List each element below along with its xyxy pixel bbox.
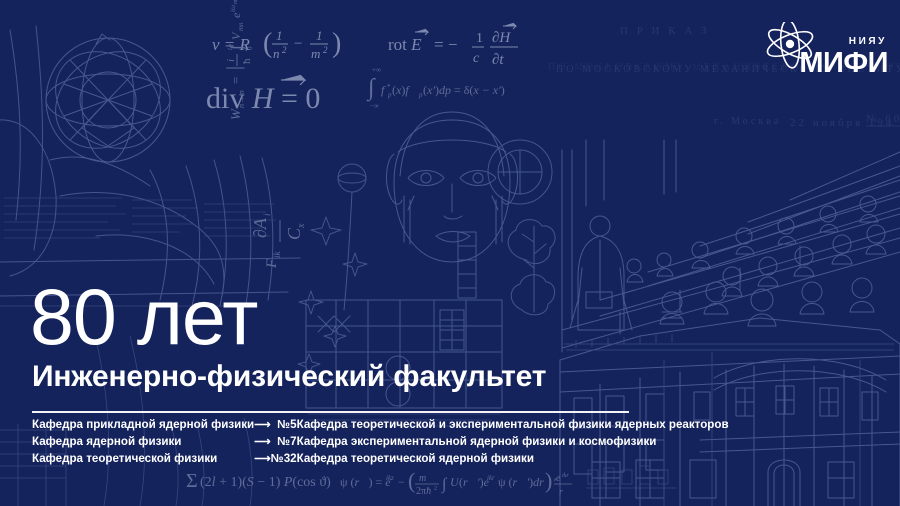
divider: [32, 411, 629, 413]
table-row: Кафедра теоретической физики ⟶ №32 Кафед…: [32, 451, 729, 468]
dept-new-name: Кафедра теоретической и экспериментально…: [297, 417, 729, 434]
mephi-anniversary-poster: П Р И К А З ПО МОСКОВСКОМУ МЕХАНИЧЕСКОМУ…: [0, 0, 900, 506]
atom-nucleus: [786, 40, 794, 48]
dept-new-name: Кафедра теоретической ядерной физики: [297, 451, 729, 468]
dept-old-name: Кафедра теоретической физики: [32, 451, 254, 468]
table-row: Кафедра ядерной физики ⟶ №7 Кафедра эксп…: [32, 434, 729, 451]
dept-old-name: Кафедра ядерной физики: [32, 434, 254, 451]
arrow-icon: ⟶: [254, 434, 271, 451]
logo-line1: НИЯУ: [849, 36, 887, 47]
arrow-icon: ⟶: [254, 451, 271, 468]
arrow-icon: ⟶: [254, 417, 271, 434]
dept-number: №5: [271, 417, 297, 434]
logo-line2: МИФИ: [799, 47, 888, 78]
dept-number: №7: [271, 434, 297, 451]
dept-old-name: Кафедра прикладной ядерной физики: [32, 417, 254, 434]
mephi-logo[interactable]: НИЯУ МИФИ: [762, 22, 888, 78]
dept-number: №32: [271, 451, 297, 468]
dept-new-name: Кафедра экспериментальной ядерной физики…: [297, 434, 729, 451]
page-title: 80 лет: [30, 274, 257, 360]
page-subtitle: Инженерно-физический факультет: [32, 358, 546, 396]
departments-table: Кафедра прикладной ядерной физики ⟶ №5 К…: [32, 417, 729, 468]
table-row: Кафедра прикладной ядерной физики ⟶ №5 К…: [32, 417, 729, 434]
